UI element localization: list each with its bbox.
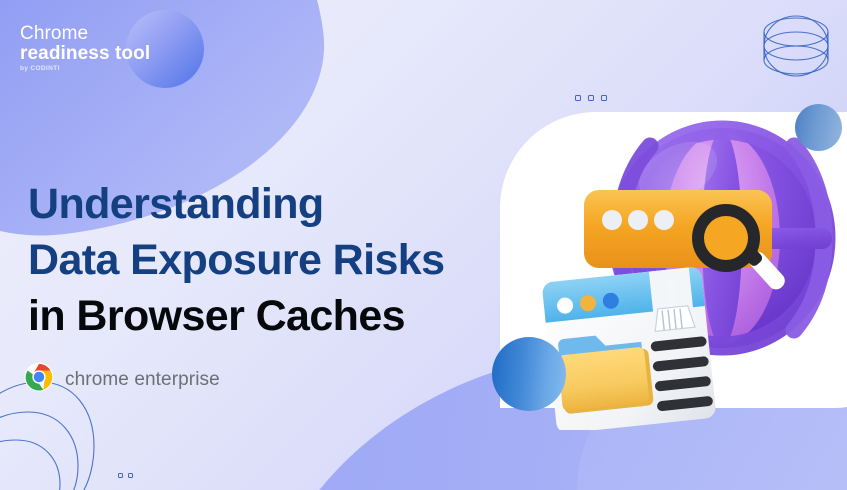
chrome-logo-icon bbox=[24, 362, 54, 397]
brand-logo: Chrome readiness tool by CODINTI bbox=[20, 24, 150, 73]
brand-line-chrome: Chrome bbox=[20, 24, 150, 44]
accent-sphere-left bbox=[492, 337, 566, 411]
chrome-enterprise-label: chrome enterprise bbox=[65, 369, 220, 391]
title-line-2: Data Exposure Risks bbox=[28, 232, 444, 288]
cover-canvas: Chrome readiness tool by CODINTI bbox=[0, 0, 847, 490]
page-title: Understanding Data Exposure Risks in Bro… bbox=[28, 176, 444, 344]
dot-icon bbox=[128, 473, 133, 478]
wireframe-rings-icon bbox=[753, 8, 839, 88]
dot-icon bbox=[588, 95, 594, 101]
dot-icon bbox=[601, 95, 607, 101]
dot-cluster-bottom bbox=[118, 473, 133, 478]
accent-sphere-right bbox=[795, 104, 842, 151]
brand-byline: by CODINTI bbox=[20, 66, 150, 73]
browser-window-icon bbox=[542, 266, 717, 430]
dot-icon bbox=[575, 95, 581, 101]
broom-icon bbox=[649, 267, 696, 337]
dot-icon bbox=[118, 473, 123, 478]
title-line-3: in Browser Caches bbox=[28, 288, 444, 344]
chrome-enterprise-lockup: chrome enterprise bbox=[24, 362, 220, 397]
brand-line-readiness: readiness tool bbox=[20, 44, 150, 64]
title-line-1: Understanding bbox=[28, 176, 444, 232]
dot-cluster-top bbox=[575, 95, 607, 101]
